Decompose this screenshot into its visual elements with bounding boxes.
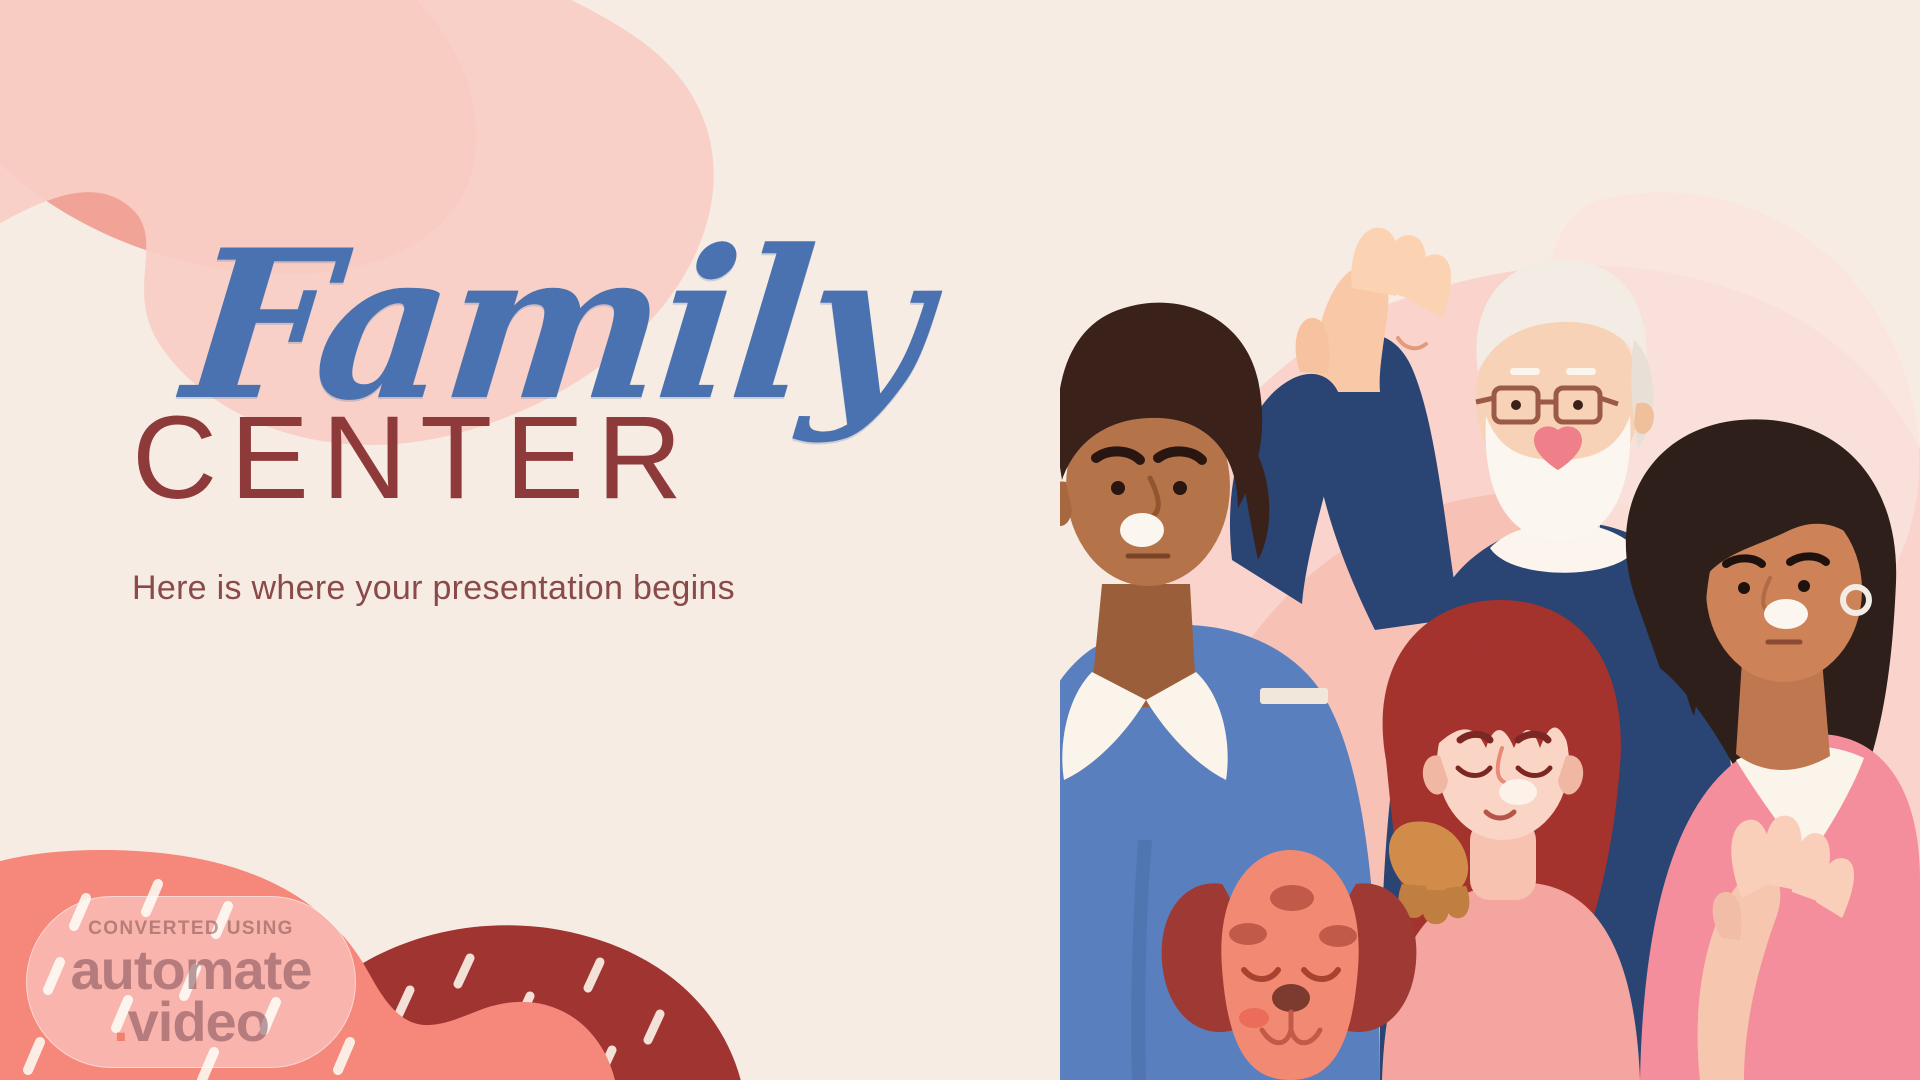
mother-eye-left xyxy=(1738,582,1750,594)
grandfather-eye-left xyxy=(1511,400,1521,410)
daughter-cheek-highlight xyxy=(1499,779,1537,805)
father-eye-right xyxy=(1173,481,1187,495)
watermark-caption: CONVERTED USING xyxy=(88,918,294,940)
dog-nose xyxy=(1272,984,1310,1012)
page-title-script: Family xyxy=(178,232,898,421)
watermark-domain: .video xyxy=(113,994,269,1050)
dog-spot-left xyxy=(1229,923,1267,945)
father-cheek-highlight xyxy=(1120,513,1164,547)
person-daughter xyxy=(1382,600,1640,1080)
watermark-badge[interactable]: CONVERTED USING automate .video xyxy=(26,896,356,1068)
dog-spot-top xyxy=(1270,885,1314,911)
watermark-domain-text: video xyxy=(128,990,269,1053)
dog-head xyxy=(1221,850,1358,1080)
grandfather-eye-right xyxy=(1573,400,1583,410)
grandfather-eyebrow-right xyxy=(1566,368,1596,375)
father-pocket-stripe xyxy=(1260,688,1328,704)
mother-eye-right xyxy=(1798,580,1810,592)
grandfather-eyebrow-left xyxy=(1510,368,1540,375)
father-eye-left xyxy=(1111,481,1125,495)
watermark-dot: . xyxy=(113,990,128,1053)
dog-spot-right xyxy=(1319,925,1357,947)
title-block: Family CENTER Here is where your present… xyxy=(128,232,888,608)
dog-blush xyxy=(1239,1008,1269,1028)
slide-canvas: Family CENTER Here is where your present… xyxy=(0,0,1920,1080)
page-subtitle: Here is where your presentation begins xyxy=(132,569,888,608)
mother-cheek-highlight xyxy=(1764,599,1808,629)
